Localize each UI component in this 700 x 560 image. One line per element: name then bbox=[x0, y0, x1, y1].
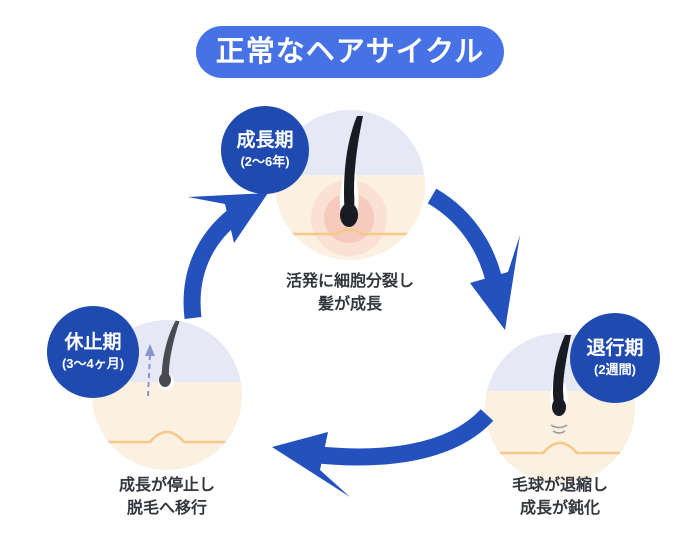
stage-badge-telogen-duration: (3〜4ヶ月) bbox=[62, 356, 124, 372]
stage-caption-telogen: 成長が停止し 脱毛へ移行 bbox=[77, 474, 257, 520]
stage-caption-anagen-line2: 髪が成長 bbox=[250, 293, 450, 316]
stage-badge-telogen-name: 休止期 bbox=[64, 333, 121, 354]
page-title-pill: 正常なヘアサイクル bbox=[196, 26, 504, 78]
stage-badge-catagen: 退行期 (2週間) bbox=[570, 313, 660, 403]
stage-badge-catagen-name: 退行期 bbox=[586, 339, 643, 360]
hair-cycle-diagram: 正常なヘアサイクル bbox=[0, 0, 700, 560]
stage-badge-catagen-duration: (2週間) bbox=[594, 362, 636, 378]
stage-caption-telogen-line2: 脱毛へ移行 bbox=[77, 497, 257, 520]
cycle-arrow-left-icon bbox=[272, 415, 487, 497]
stage-caption-anagen-line1: 活発に細胞分裂し bbox=[250, 270, 450, 293]
stage-caption-catagen: 毛球が退縮し 成長が鈍化 bbox=[470, 474, 650, 520]
page-title: 正常なヘアサイクル bbox=[216, 38, 485, 67]
stage-badge-telogen: 休止期 (3〜4ヶ月) bbox=[47, 306, 139, 398]
stage-badge-anagen: 成長期 (2〜6年) bbox=[221, 106, 309, 194]
stage-badge-anagen-duration: (2〜6年) bbox=[240, 154, 289, 170]
stage-badge-anagen-name: 成長期 bbox=[236, 131, 293, 152]
stage-caption-catagen-line2: 成長が鈍化 bbox=[470, 497, 650, 520]
stage-caption-catagen-line1: 毛球が退縮し bbox=[470, 474, 650, 497]
stage-caption-anagen: 活発に細胞分裂し 髪が成長 bbox=[250, 270, 450, 316]
stage-caption-telogen-line1: 成長が停止し bbox=[77, 474, 257, 497]
